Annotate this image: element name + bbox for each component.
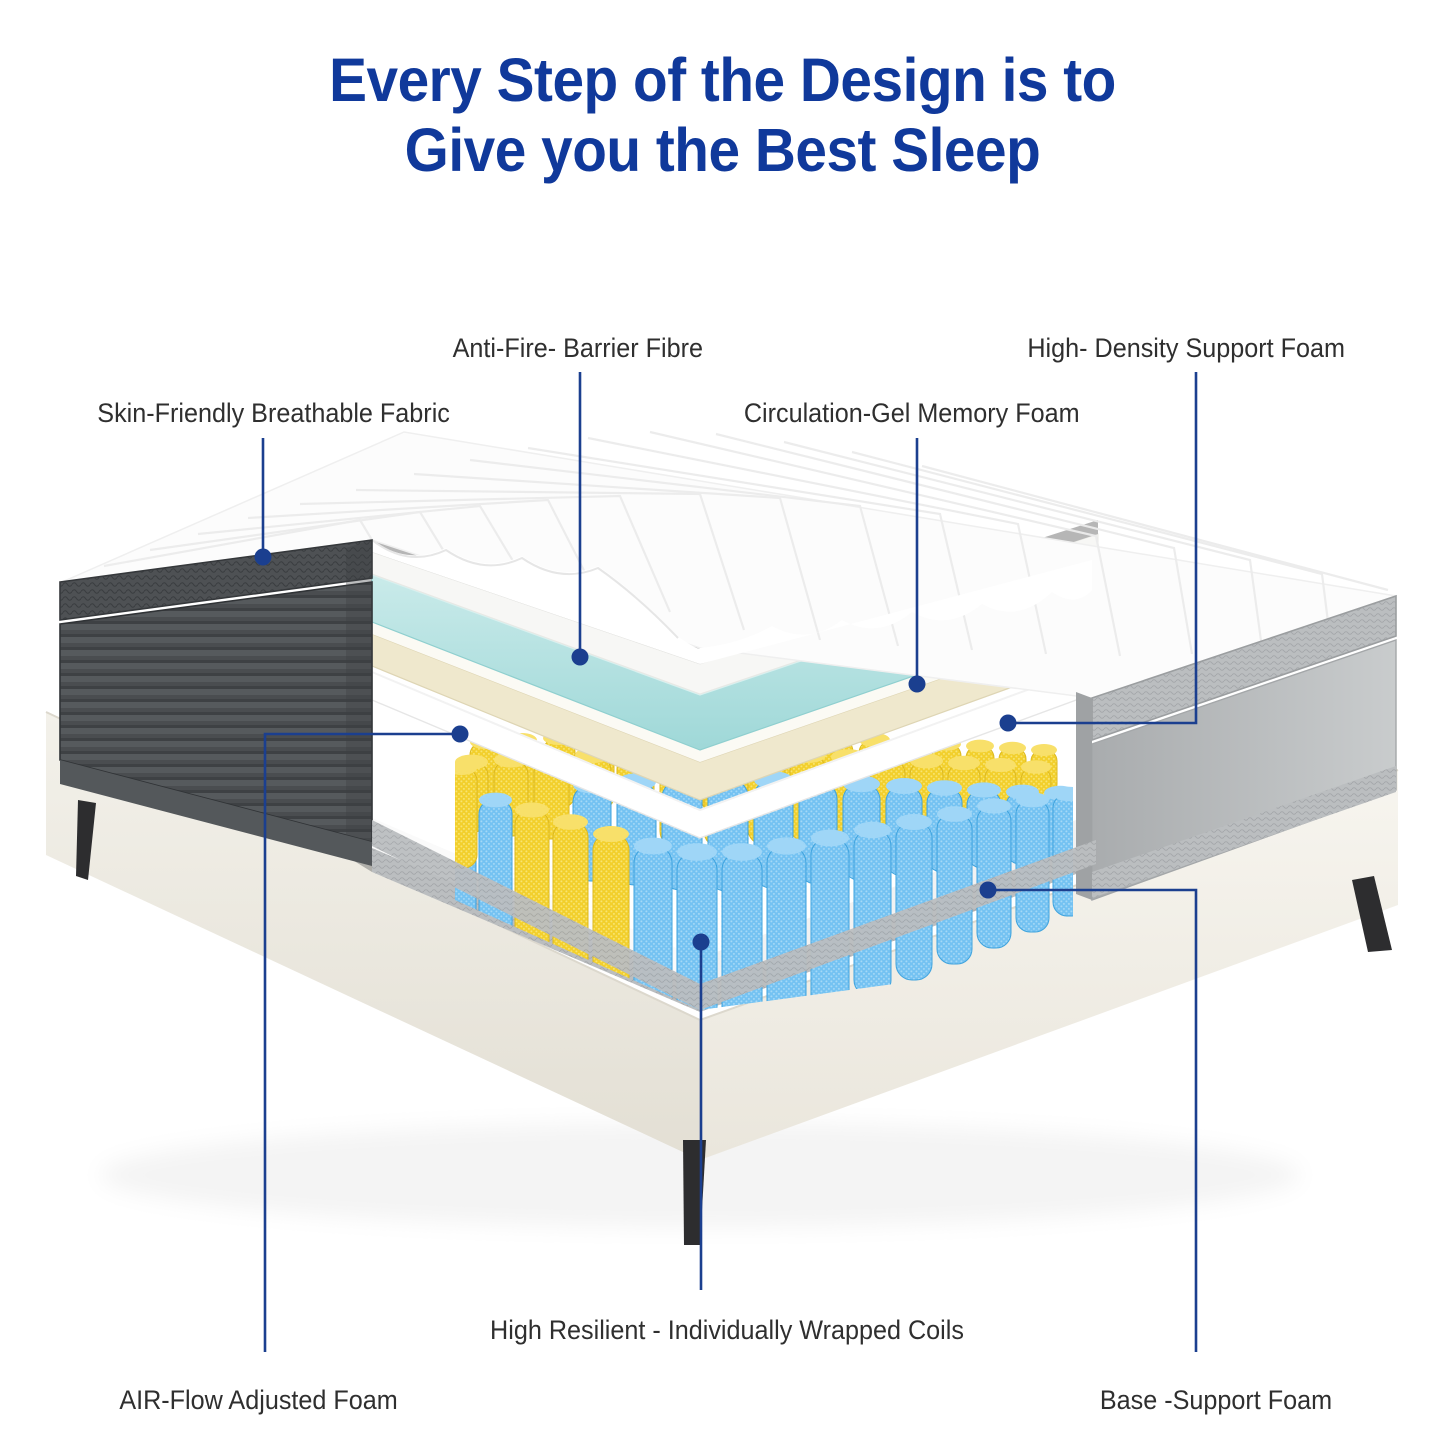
- label-high-density-support-foam: High- Density Support Foam: [1027, 333, 1345, 364]
- leader-dot-anti-fire-barrier-fibre: [572, 649, 589, 666]
- label-skin-friendly-breathable-fabric: Skin-Friendly Breathable Fabric: [97, 398, 450, 429]
- label-base-support-foam: Base -Support Foam: [1100, 1385, 1332, 1416]
- leader-dot-high-density-support-foam: [1000, 715, 1017, 732]
- leader-dot-skin-friendly-breathable-fabric: [255, 549, 272, 566]
- bed-leg-front: [683, 1140, 706, 1245]
- label-circulation-gel-memory-foam: Circulation-Gel Memory Foam: [744, 398, 1080, 429]
- leader-dot-air-flow-adjusted-foam: [452, 726, 469, 743]
- leader-dot-circulation-gel-memory-foam: [909, 676, 926, 693]
- infographic-canvas: Every Step of the Design is toGive you t…: [0, 0, 1445, 1445]
- leader-dot-base-support-foam: [980, 882, 997, 899]
- label-air-flow-adjusted-foam: AIR-Flow Adjusted Foam: [119, 1385, 397, 1416]
- label-anti-fire-barrier-fibre: Anti-Fire- Barrier Fibre: [453, 333, 703, 364]
- leader-dot-high-resilient-wrapped-coils: [693, 934, 710, 951]
- label-high-resilient-wrapped-coils: High Resilient - Individually Wrapped Co…: [490, 1315, 964, 1346]
- mattress-cutaway-illustration: [0, 0, 1445, 1445]
